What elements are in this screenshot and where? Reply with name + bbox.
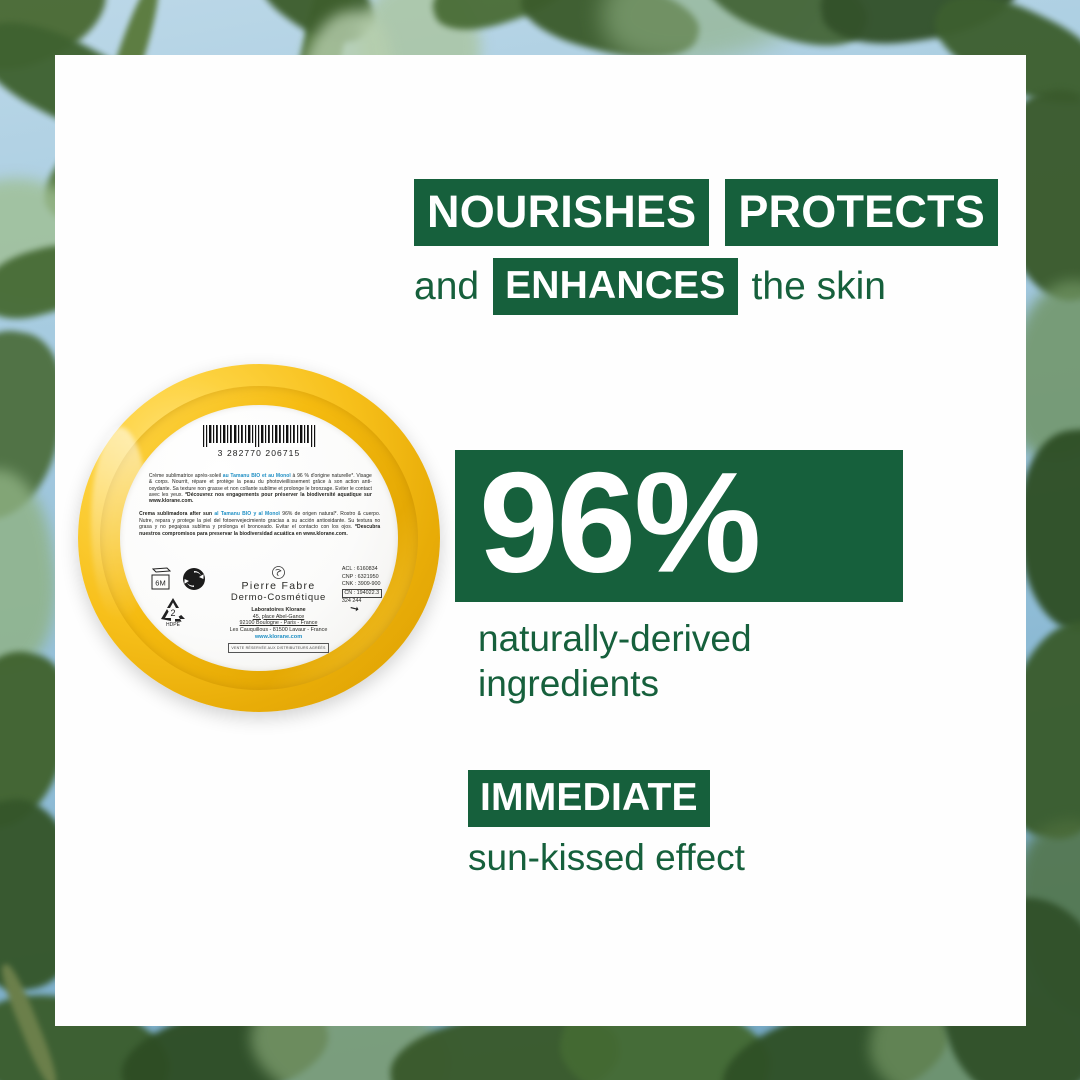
jar-back-label: 3 282770 206715 Crème sublimatrice après… bbox=[120, 405, 399, 671]
green-dot-icon bbox=[182, 567, 206, 591]
svg-text:2: 2 bbox=[171, 608, 176, 618]
label-text-spanish: Crema sublimadora after sun al Tamanu BI… bbox=[139, 511, 380, 537]
product-jar: 3 282770 206715 Crème sublimatrice après… bbox=[78, 364, 440, 712]
es-pre: Crema sublimadora after sun bbox=[139, 511, 214, 517]
code-last: 324 244 bbox=[342, 598, 382, 606]
word-and: and bbox=[414, 267, 493, 306]
percent-caption-line-1: naturally-derived bbox=[478, 616, 752, 661]
words-the-skin: the skin bbox=[738, 267, 886, 306]
barcode-icon bbox=[200, 425, 318, 447]
code-cn: CN : 194022.3 bbox=[342, 589, 382, 599]
pierre-fabre-logo-icon bbox=[272, 566, 285, 579]
percent-value: 96% bbox=[479, 452, 759, 595]
code-cnp: CNP : 6321950 bbox=[342, 574, 382, 582]
chip-protects: PROTECTS bbox=[725, 179, 998, 246]
fr-highlight: au Tamanu BIO et au Monoï bbox=[223, 473, 291, 479]
code-cnk: CNK : 3909-900 bbox=[342, 581, 382, 589]
period-after-opening-icon: 6M bbox=[150, 567, 176, 591]
fr-pre: Crème sublimatrice après-soleil bbox=[149, 473, 223, 479]
chip-nourishes: NOURISHES bbox=[414, 179, 709, 246]
code-acl: ACL : 6160834 bbox=[342, 566, 382, 574]
headline-row-2: and ENHANCES the skin bbox=[414, 258, 998, 315]
immediate-block: IMMEDIATE sun-kissed effect bbox=[468, 770, 745, 878]
product-codes: ACL : 6160834 CNP : 6321950 CNK : 3909-9… bbox=[342, 566, 382, 606]
brand-block: Pierre Fabre Dermo-Cosmétique Laboratoir… bbox=[212, 566, 346, 653]
headline-row-1: NOURISHES PROTECTS bbox=[414, 179, 998, 246]
brand-name-line-1: Pierre Fabre bbox=[212, 580, 346, 592]
recycling-hdpe-icon: 2 HDPE bbox=[156, 595, 190, 627]
barcode-number: 3 282770 206715 bbox=[200, 448, 318, 458]
manufacturer-address: Laboratoires Klorane 45, place Abel-Ganc… bbox=[212, 607, 346, 653]
chip-immediate: IMMEDIATE bbox=[468, 770, 710, 827]
brand-name-line-2: Dermo-Cosmétique bbox=[212, 592, 346, 603]
percent-caption: naturally-derived ingredients bbox=[478, 616, 752, 706]
address-line-3: Les Cauquillous - 81500 Lavaur - France bbox=[212, 627, 346, 634]
batch-arrow-icon: ➞ bbox=[349, 601, 361, 616]
percent-caption-line-2: ingredients bbox=[478, 661, 752, 706]
chip-enhances: ENHANCES bbox=[493, 258, 737, 315]
address-line-2: 92100 Boulogne - Paris - France bbox=[212, 620, 346, 627]
label-text-french: Crème sublimatrice après-soleil au Taman… bbox=[149, 473, 372, 505]
barcode-block: 3 282770 206715 bbox=[200, 425, 318, 458]
svg-text:6M: 6M bbox=[156, 579, 166, 588]
percent-band: 96% bbox=[455, 450, 903, 602]
svg-text:HDPE: HDPE bbox=[166, 622, 181, 627]
headline-block: NOURISHES PROTECTS and ENHANCES the skin bbox=[414, 179, 998, 315]
immediate-caption: sun-kissed effect bbox=[468, 838, 745, 878]
website-url: www.klorane.com bbox=[212, 634, 346, 641]
lab-name: Laboratoires Klorane bbox=[212, 607, 346, 614]
reserve-note: VENTE RÉSERVÉE AUX DISTRIBUTEURS AGRÉÉS bbox=[228, 643, 328, 653]
es-highlight: al Tamanu BIO y al Monoï bbox=[214, 511, 280, 517]
address-line-1: 45, place Abel-Gance bbox=[212, 614, 346, 621]
